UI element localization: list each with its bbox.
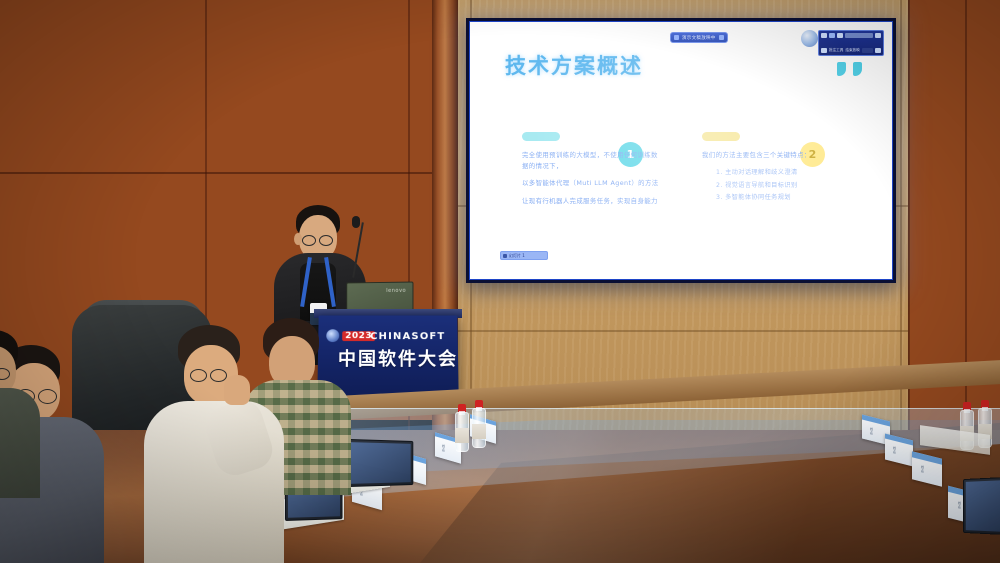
conference-logo-icon xyxy=(801,30,818,47)
panel-seam xyxy=(458,330,913,332)
presenter-ear xyxy=(294,233,302,245)
chart-icon xyxy=(674,35,679,40)
name-card-label: 姓名 xyxy=(442,445,445,453)
quote-mark-icon xyxy=(853,62,862,76)
pointer-icon[interactable] xyxy=(719,35,724,40)
left-para-3: 让现有行机器人完成服务任务，实现自身能力 xyxy=(522,196,662,207)
slide-title: 技术方案概述 xyxy=(505,50,643,80)
right-item-2: 2. 视觉语言导航和目标识别 xyxy=(716,180,842,192)
microphone-icon xyxy=(352,216,360,228)
volume-icon[interactable] xyxy=(875,48,881,53)
annotate-label[interactable]: 批注工具 xyxy=(829,48,843,53)
glasses-icon xyxy=(210,369,227,382)
attendee-hand xyxy=(224,375,250,405)
slide-chip-label: 幻灯片 1 xyxy=(509,253,525,259)
attendee-laptop[interactable] xyxy=(345,439,413,487)
laptop-brand-logo: lenovo xyxy=(386,288,406,294)
toolbar-label: 演示文稿放映中 xyxy=(682,35,716,41)
left-para-1: 完全使用预训练的大模型，不使用任何训练数据的情况下， xyxy=(522,150,662,172)
attendee-center-left xyxy=(150,325,270,563)
podium-brand-cn: 中国软件大会 xyxy=(338,345,458,371)
presentation-toolbar[interactable]: 演示文稿放映中 xyxy=(670,32,728,43)
attendee-olive-jacket xyxy=(0,388,40,498)
slide-status-chip[interactable]: 幻灯片 1 xyxy=(500,251,548,260)
name-card-label: 姓名 xyxy=(893,447,896,455)
close-icon[interactable] xyxy=(837,33,843,38)
attendee-laptop[interactable] xyxy=(963,477,1000,535)
glasses-icon xyxy=(302,235,316,246)
glasses-icon xyxy=(190,369,207,382)
glasses-icon xyxy=(319,235,333,246)
options-icon[interactable] xyxy=(875,33,881,38)
name-card-label: 姓名 xyxy=(958,502,961,510)
attendee-far-left xyxy=(0,330,40,450)
right-accent-bar xyxy=(702,132,740,141)
window-controls-overlay[interactable]: 批注工具 结束放映 xyxy=(818,30,884,56)
glasses-icon xyxy=(38,389,57,404)
quote-mark-icon xyxy=(837,62,846,76)
left-para-2: 以多智能体代理（Muti LLM Agent）的方法 xyxy=(522,178,662,189)
glasses-icon xyxy=(0,368,10,380)
right-item-3: 3. 多智能体协同任务规划 xyxy=(716,192,842,204)
titlebar-spacer2 xyxy=(862,48,873,53)
left-text-block: 完全使用预训练的大模型，不使用任何训练数据的情况下， 以多智能体代理（Muti … xyxy=(522,150,662,213)
pen-icon[interactable] xyxy=(821,48,827,53)
slide-icon xyxy=(503,254,507,258)
projection-screen[interactable]: 技术方案概述 演示文稿放映中 批注工具 xyxy=(466,18,896,283)
name-card-label: 姓名 xyxy=(870,428,873,436)
minimize-icon[interactable] xyxy=(821,33,827,38)
right-heading: 我们的方法主要包含三个关键特点： xyxy=(702,150,842,161)
left-accent-bar xyxy=(522,132,560,141)
maximize-icon[interactable] xyxy=(829,33,835,38)
name-card-label: 姓名 xyxy=(921,466,924,474)
end-show-label[interactable]: 结束放映 xyxy=(845,48,859,53)
wall-seam xyxy=(0,172,470,174)
right-item-1: 1. 主动对话理解和歧义澄清 xyxy=(716,167,842,179)
screen-surface[interactable]: 技术方案概述 演示文稿放映中 批注工具 xyxy=(469,21,893,280)
titlebar-spacer xyxy=(845,33,873,38)
conference-room-photo: 技术方案概述 演示文稿放映中 批注工具 xyxy=(0,0,1000,563)
right-text-block: 我们的方法主要包含三个关键特点： 1. 主动对话理解和歧义澄清 2. 视觉语言导… xyxy=(702,150,842,204)
podium-brand-en: CHINASOFT xyxy=(370,331,445,342)
